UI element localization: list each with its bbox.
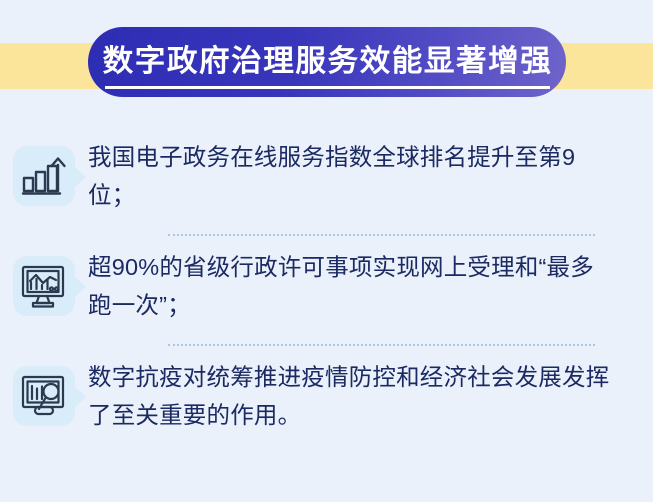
list-item: 超90%的省级行政许可事项实现网上受理和“最多跑一次”； [0,236,653,346]
list-item: 数字抗疫对统筹推进疫情防控和经济社会发展发挥了至关重要的作用。 [0,346,653,456]
monitor-magnifier-icon [20,373,68,419]
bar-chart-growth-icon [20,153,68,199]
title-pill: 数字政府治理服务效能显著增强 [88,27,566,97]
item-text-col: 我国电子政务在线服务指数全球排名提升至第9位； [88,126,653,214]
monitor-line-chart-icon [20,263,68,309]
icon-bubble [13,366,75,426]
header-banner: 数字政府治理服务效能显著增强 [0,0,653,118]
item-text-col: 超90%的省级行政许可事项实现网上受理和“最多跑一次”； [88,236,653,324]
page-title: 数字政府治理服务效能显著增强 [102,47,552,77]
icon-bubble [13,146,75,206]
icon-bubble-wrap [0,236,88,316]
icon-bubble-wrap [0,346,88,426]
points-list: 我国电子政务在线服务指数全球排名提升至第9位； [0,126,653,456]
icon-bubble [13,256,75,316]
list-item-text: 我国电子政务在线服务指数全球排名提升至第9位； [88,138,613,214]
title-inner: 数字政府治理服务效能显著增强 [103,47,552,77]
icon-bubble-wrap [0,126,88,206]
list-item-text: 超90%的省级行政许可事项实现网上受理和“最多跑一次”； [88,248,613,324]
list-item-text: 数字抗疫对统筹推进疫情防控和经济社会发展发挥了至关重要的作用。 [88,358,613,434]
list-item: 我国电子政务在线服务指数全球排名提升至第9位； [0,126,653,236]
title-underline [105,86,550,89]
item-text-col: 数字抗疫对统筹推进疫情防控和经济社会发展发挥了至关重要的作用。 [88,346,653,434]
